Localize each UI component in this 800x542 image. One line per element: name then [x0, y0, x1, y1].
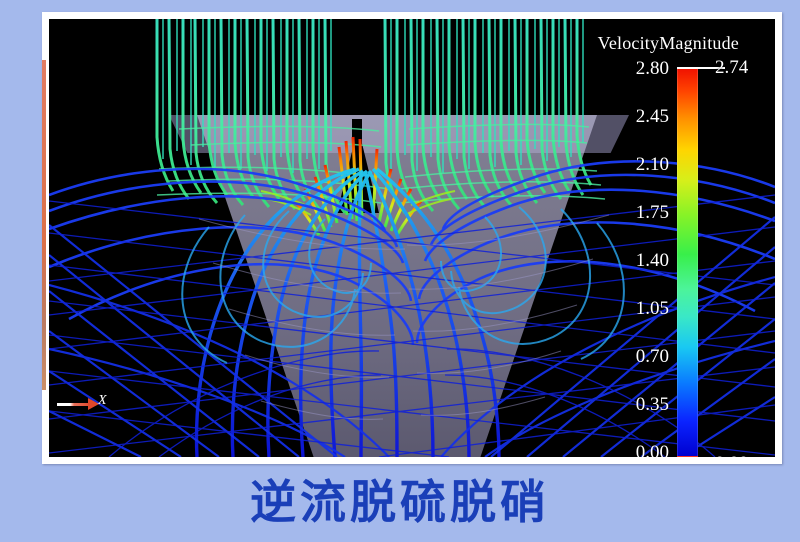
falling-liquid-streams-secondary [163, 19, 583, 173]
render-canvas[interactable]: X VelocityMagnitude 2.80 2.45 2.10 1.75 … [49, 19, 775, 457]
slide-caption: 逆流脱硫脱硝 [0, 472, 800, 532]
streamline-field [49, 19, 775, 457]
slide-root: X VelocityMagnitude 2.80 2.45 2.10 1.75 … [0, 0, 800, 542]
cone-wireframe-lines [199, 215, 609, 419]
spray-arc-streamlines [49, 161, 775, 345]
x-axis-arrow-line [57, 403, 91, 406]
left-accent-strip [42, 60, 46, 390]
picture-frame: X VelocityMagnitude 2.80 2.45 2.10 1.75 … [42, 12, 782, 464]
x-axis-label: X [98, 393, 107, 409]
axis-orientation-widget: X [55, 385, 125, 425]
